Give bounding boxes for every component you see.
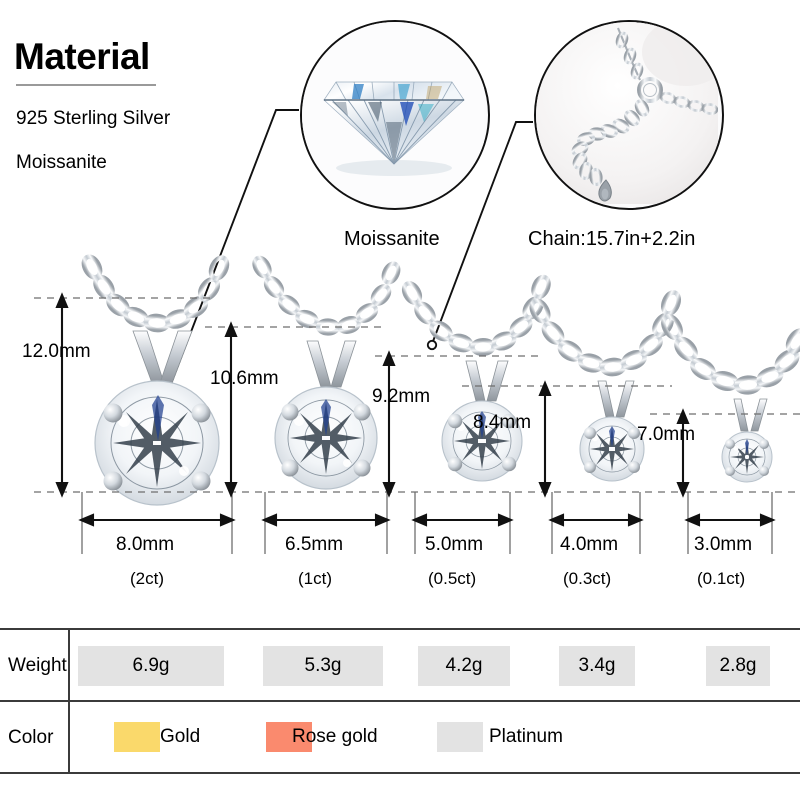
weight-value-0_5ct: 4.2g [418,646,510,686]
color-label-gold: Gold [160,726,200,748]
weight-value-1ct: 5.3g [263,646,383,686]
color-label-platinum: Platinum [489,726,563,748]
color-row: Color Gold Rose gold Platinum [0,700,800,772]
carat-label-1ct: (1ct) [298,569,332,589]
carat-label-2ct: (2ct) [130,569,164,589]
height-label-0_5ct: 9.2mm [372,386,430,408]
weight-value-0_3ct: 3.4g [559,646,635,686]
color-row-label: Color [8,727,53,749]
carat-label-0_3ct: (0.3ct) [563,569,611,589]
color-label-rose-gold: Rose gold [292,726,378,748]
color-swatch-gold[interactable] [114,722,160,752]
height-label-0_3ct: 8.4mm [473,412,531,434]
height-label-0_1ct: 7.0mm [637,424,695,446]
width-label-1ct: 6.5mm [285,534,343,556]
width-label-0_5ct: 5.0mm [425,534,483,556]
weight-value-2ct: 6.9g [78,646,224,686]
weight-row-label: Weight [8,655,67,677]
carat-label-0_1ct: (0.1ct) [697,569,745,589]
carat-label-0_5ct: (0.5ct) [428,569,476,589]
height-label-1ct: 10.6mm [210,368,279,390]
width-label-2ct: 8.0mm [116,534,174,556]
infographic-root: Material 925 Sterling Silver Moissanite [0,0,800,800]
moissanite-inset [300,20,490,210]
table-column-divider [68,630,70,702]
weight-row: Weight 6.9g 5.3g 4.2g 3.4g 2.8g [0,628,800,700]
width-label-0_1ct: 3.0mm [694,534,752,556]
moissanite-image [302,22,484,204]
weight-value-0_1ct: 2.8g [706,646,770,686]
table-bottom-rule [0,772,800,774]
height-label-2ct: 12.0mm [22,341,91,363]
chain-image [536,22,718,204]
color-swatch-platinum[interactable] [437,722,483,752]
spec-table: Weight 6.9g 5.3g 4.2g 3.4g 2.8g Color Go… [0,628,800,774]
width-label-0_3ct: 4.0mm [560,534,618,556]
table-column-divider-2 [68,702,70,774]
chain-inset [534,20,724,210]
